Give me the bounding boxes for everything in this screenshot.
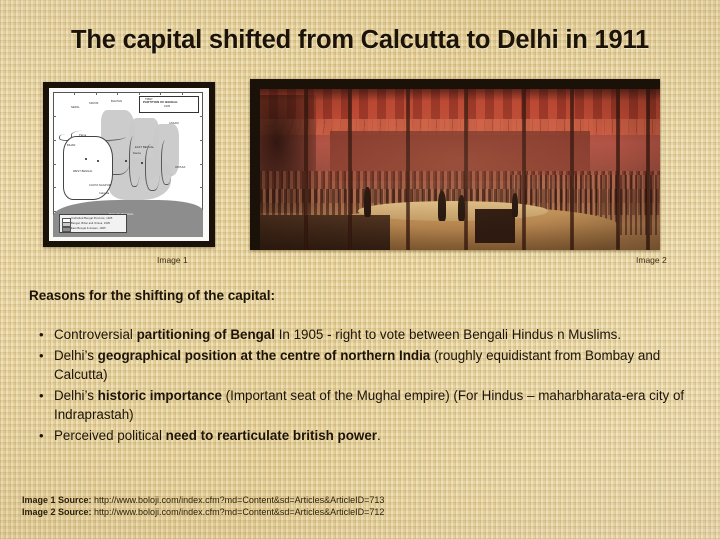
reason-emphasis: need to rearticulate british power (166, 428, 377, 443)
map-tick (53, 164, 56, 165)
partition-of-bengal-map: PARTITION OF BENGAL1905NEPALBHUTANSIKKIM… (49, 88, 209, 241)
reason-emphasis: historic importance (98, 388, 222, 403)
map-tick (53, 140, 56, 141)
slide-canvas: The capital shifted from Calcutta to Del… (0, 0, 720, 539)
map-tick (53, 187, 56, 188)
map-tick (96, 92, 97, 95)
reason-text: Perceived political (54, 428, 166, 443)
map-subtitle: 1905 (164, 105, 170, 108)
map-city-dot (125, 160, 127, 162)
map-place-label: Calcutta (99, 192, 109, 195)
bullet-marker-icon: • (39, 386, 44, 406)
source-label: Image 1 Source: (22, 495, 94, 505)
reason-bullet: •Delhi’s historic importance (Important … (34, 386, 702, 425)
image-2-frame[interactable] (250, 79, 660, 250)
map-tick (74, 92, 75, 95)
map-place-label: WEST BENGAL (73, 170, 93, 173)
source-url[interactable]: http://www.boloji.com/index.cfm?md=Conte… (94, 495, 384, 505)
map-tick (200, 140, 203, 141)
reason-emphasis: geographical position at the centre of n… (98, 348, 431, 363)
map-legend-label: Undivided Bengal Province, 1905 (71, 217, 112, 220)
map-place-label: BHUTAN (111, 100, 122, 103)
reason-bullet: •Perceived political need to rearticulat… (34, 426, 702, 446)
bullet-marker-icon: • (39, 325, 44, 345)
map-tick (200, 116, 203, 117)
reason-text: Delhi’s (54, 348, 98, 363)
map-tick (117, 92, 118, 95)
map-legend-swatch (62, 227, 71, 232)
map-city-dot (85, 158, 87, 160)
reason-text: Delhi’s (54, 388, 98, 403)
image-source-line: Image 1 Source: http://www.boloji.com/in… (22, 495, 702, 507)
map-city-dot (97, 160, 99, 162)
map-place-label: ASSAM (169, 122, 179, 125)
image-1-frame[interactable]: PARTITION OF BENGAL1905NEPALBHUTANSIKKIM… (43, 82, 215, 247)
reason-bullet: •Controversial partitioning of Bengal In… (34, 325, 702, 345)
map-place-label: NEPAL (71, 106, 80, 109)
reason-emphasis: partitioning of Bengal (137, 327, 275, 342)
source-label: Image 2 Source: (22, 507, 94, 517)
reasons-heading: Reasons for the shifting of the capital: (29, 288, 689, 303)
map-legend-label: East Bengal & Assam, 1905 (71, 227, 106, 230)
map-tick (182, 92, 183, 95)
bullet-marker-icon: • (39, 346, 44, 366)
map-place-label: ORISSA (175, 166, 185, 169)
map-legend-label: Bengal, Bihar and Orissa, 1905 (71, 222, 110, 225)
map-legend: Undivided Bengal Province, 1905Bengal, B… (59, 214, 127, 233)
map-tick (160, 92, 161, 95)
reason-bullet: •Delhi’s geographical position at the ce… (34, 346, 702, 385)
map-place-label: Patna (79, 134, 86, 137)
delhi-durbar-painting (260, 89, 660, 250)
reason-text: Controversial (54, 327, 137, 342)
reason-text: In 1905 - right to vote between Bengali … (275, 327, 621, 342)
bullet-marker-icon: • (39, 426, 44, 446)
source-url[interactable]: http://www.boloji.com/index.cfm?md=Conte… (94, 507, 384, 517)
map-place-label: SIKKIM (89, 102, 98, 105)
map-river (129, 136, 140, 187)
map-place-label: TIBET (145, 98, 153, 101)
map-place-label: EAST BENGAL (135, 146, 154, 149)
map-place-label: BIHAR (67, 144, 75, 147)
painting-vignette (260, 89, 660, 250)
map-tick (200, 164, 203, 165)
reasons-bullet-list: •Controversial partitioning of Bengal In… (34, 325, 702, 447)
page-title: The capital shifted from Calcutta to Del… (0, 26, 720, 55)
map-tick (53, 116, 56, 117)
image-sources: Image 1 Source: http://www.boloji.com/in… (22, 495, 702, 519)
map-tick (200, 187, 203, 188)
map-river (161, 140, 172, 185)
map-place-label: Dacca (133, 152, 141, 155)
reason-text: . (377, 428, 381, 443)
map-place-label: CHOTA NAGPUR (89, 184, 111, 187)
map-tick (139, 92, 140, 95)
image-source-line: Image 2 Source: http://www.boloji.com/in… (22, 507, 702, 519)
map-river (145, 144, 160, 191)
image-2-caption: Image 2 (636, 255, 667, 265)
map-city-dot (141, 162, 143, 164)
image-1-caption: Image 1 (157, 255, 188, 265)
